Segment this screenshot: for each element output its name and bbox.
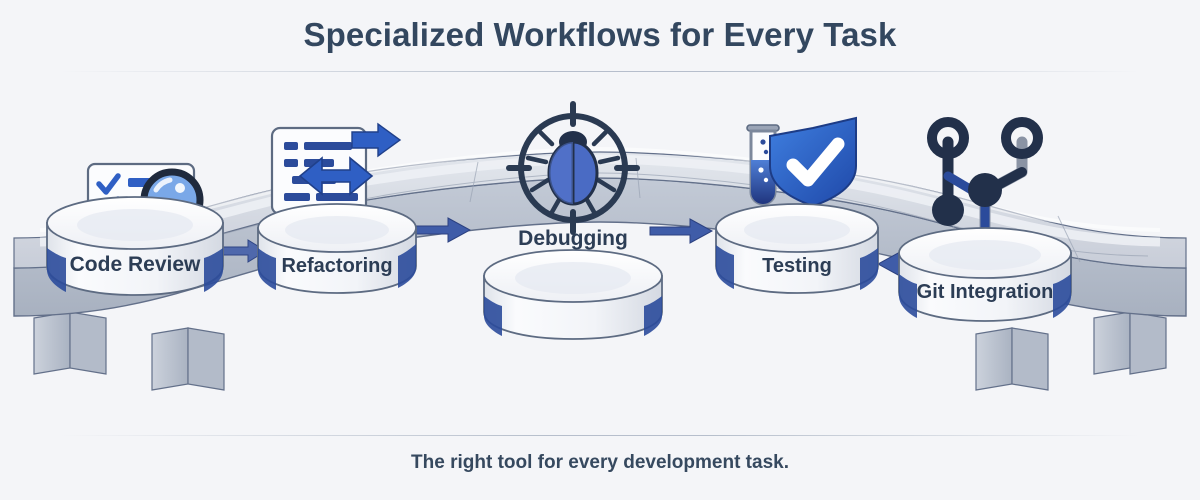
node-label-code-review: Code Review <box>70 253 201 276</box>
pedestal-refactoring: Refactoring <box>258 204 416 293</box>
workflow-diagram: Code Review <box>0 80 1200 430</box>
divider-bottom <box>60 435 1140 436</box>
node-label-git-integration: Git Integration <box>917 281 1054 303</box>
platform-leg <box>34 312 106 374</box>
platform-leg <box>152 328 224 390</box>
pedestal-git-integration: Git Integration <box>899 228 1071 321</box>
workflow-node-code-review[interactable]: Code Review <box>47 164 223 295</box>
node-label-testing: Testing <box>762 255 832 277</box>
test-tube-shield-icon <box>747 118 856 206</box>
pedestal-debugging: Debugging <box>484 227 662 339</box>
platform-leg <box>1094 312 1166 374</box>
pedestal-testing: Testing <box>716 204 878 293</box>
node-label-refactoring: Refactoring <box>281 255 392 277</box>
node-label-debugging: Debugging <box>518 227 628 250</box>
page-title: Specialized Workflows for Every Task <box>0 16 1200 54</box>
divider-top <box>60 71 1140 72</box>
pedestal-code-review: Code Review <box>47 197 223 295</box>
page-caption: The right tool for every development tas… <box>0 452 1200 474</box>
infographic-canvas: Specialized Workflows for Every Task <box>0 0 1200 500</box>
platform-leg <box>976 328 1048 390</box>
